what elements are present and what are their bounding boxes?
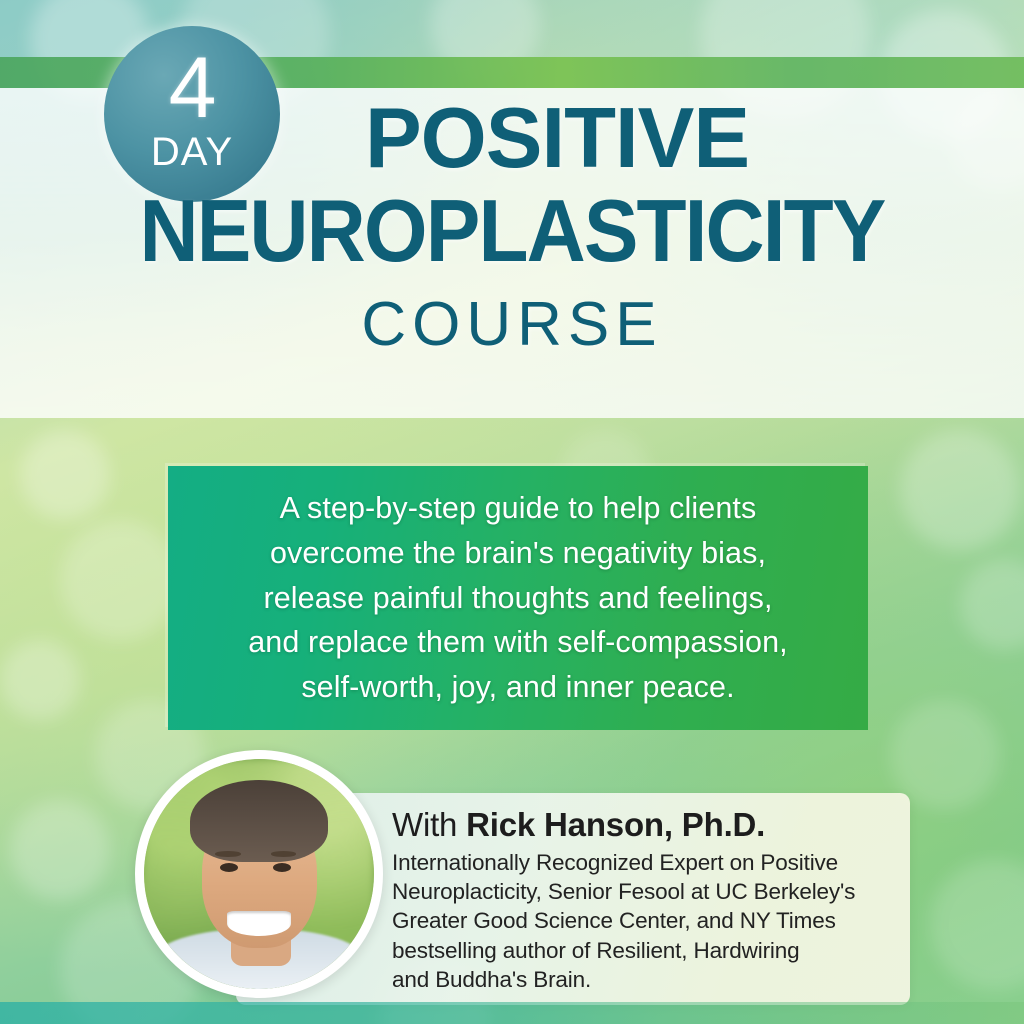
portrait-photo: [144, 759, 374, 989]
description-box: A step-by-step guide to help clients ove…: [168, 466, 868, 730]
speaker-details: With Rick Hanson, Ph.D. Internationally …: [392, 806, 892, 994]
speaker-bio: Internationally Recognized Expert on Pos…: [392, 848, 892, 994]
with-label: With: [392, 806, 466, 843]
portrait-eye-left: [220, 863, 238, 872]
bokeh-circle: [900, 430, 1020, 550]
bio-line: bestselling author of Resilient, Hardwir…: [392, 936, 892, 965]
avatar: [135, 750, 383, 998]
speaker-name-line: With Rick Hanson, Ph.D.: [392, 806, 892, 845]
bio-line: Neuroplacticity, Senior Fesool at UC Ber…: [392, 877, 892, 906]
title-line-course: COURSE: [0, 289, 1024, 360]
description-line: and replace them with self-compassion,: [248, 620, 788, 665]
portrait-eyebrow-right: [271, 851, 296, 857]
description-text: A step-by-step guide to help clients ove…: [230, 486, 806, 710]
bio-line: and Buddha's Brain.: [392, 965, 892, 994]
title-line-neuroplasticity: NEUROPLASTICITY: [36, 187, 988, 275]
portrait-smile: [227, 911, 291, 936]
title-line-positive: POSITIVE: [0, 96, 1024, 183]
bokeh-circle: [0, 640, 80, 720]
bottom-accent-strip: [0, 1002, 1024, 1024]
description-line: overcome the brain's negativity bias,: [248, 531, 788, 576]
speaker-name: Rick Hanson, Ph.D.: [466, 806, 765, 843]
bio-line: Internationally Recognized Expert on Pos…: [392, 848, 892, 877]
description-line: self-worth, joy, and inner peace.: [248, 665, 788, 710]
bokeh-circle: [20, 430, 110, 520]
portrait-eye-right: [273, 863, 291, 872]
portrait-hair: [190, 780, 328, 863]
description-line: release painful thoughts and feelings,: [248, 576, 788, 621]
description-line: A step-by-step guide to help clients: [248, 486, 788, 531]
bokeh-circle: [890, 700, 1000, 810]
bokeh-circle: [10, 800, 110, 900]
bio-line: Greater Good Science Center, and NY Time…: [392, 906, 892, 935]
portrait-eyebrow-left: [215, 851, 240, 857]
bokeh-circle: [60, 520, 180, 640]
course-title: POSITIVE NEUROPLASTICITY COURSE: [0, 96, 1024, 360]
